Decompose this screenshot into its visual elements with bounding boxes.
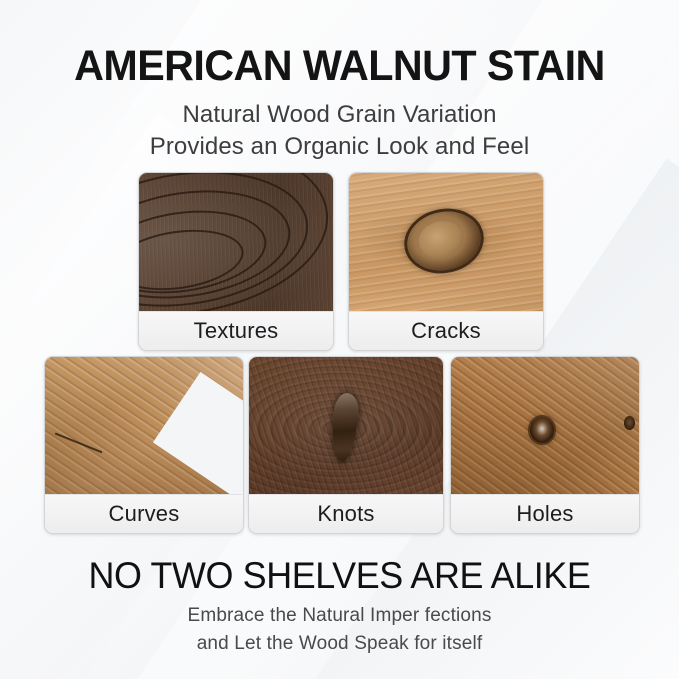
card-label-knots: Knots [249, 494, 443, 533]
card-label-textures: Textures [139, 311, 333, 350]
footer-title: NO TWO SHELVES ARE ALIKE [10, 557, 669, 596]
card-holes[interactable]: Holes [450, 356, 640, 534]
swatch-image-curves [45, 357, 243, 494]
hole-small [624, 416, 635, 430]
card-label-holes: Holes [451, 494, 639, 533]
card-knots[interactable]: Knots [248, 356, 444, 534]
card-label-curves: Curves [45, 494, 243, 533]
hero-subtitle: Natural Wood Grain Variation Provides an… [0, 99, 679, 162]
swatch-image-holes [451, 357, 639, 494]
hero-title: AMERICAN WALNUT STAIN [14, 44, 666, 89]
hero-subtitle-line-1: Natural Wood Grain Variation [0, 99, 679, 131]
swatch-image-textures [139, 173, 333, 311]
swatch-image-cracks [349, 173, 543, 311]
card-curves[interactable]: Curves [44, 356, 244, 534]
card-label-cracks: Cracks [349, 311, 543, 350]
hero-subtitle-line-2: Provides an Organic Look and Feel [0, 131, 679, 163]
grain-rings [139, 173, 333, 311]
footer-subtitle-line-2: and Let the Wood Speak for itself [0, 630, 679, 658]
card-textures[interactable]: Textures [138, 172, 334, 351]
promo-banner: AMERICAN WALNUT STAIN Natural Wood Grain… [0, 0, 679, 679]
card-cracks[interactable]: Cracks [348, 172, 544, 351]
footer-subtitle-line-1: Embrace the Natural Imper fections [0, 602, 679, 630]
swatch-image-knots [249, 357, 443, 494]
footer-subtitle: Embrace the Natural Imper fections and L… [0, 602, 679, 657]
